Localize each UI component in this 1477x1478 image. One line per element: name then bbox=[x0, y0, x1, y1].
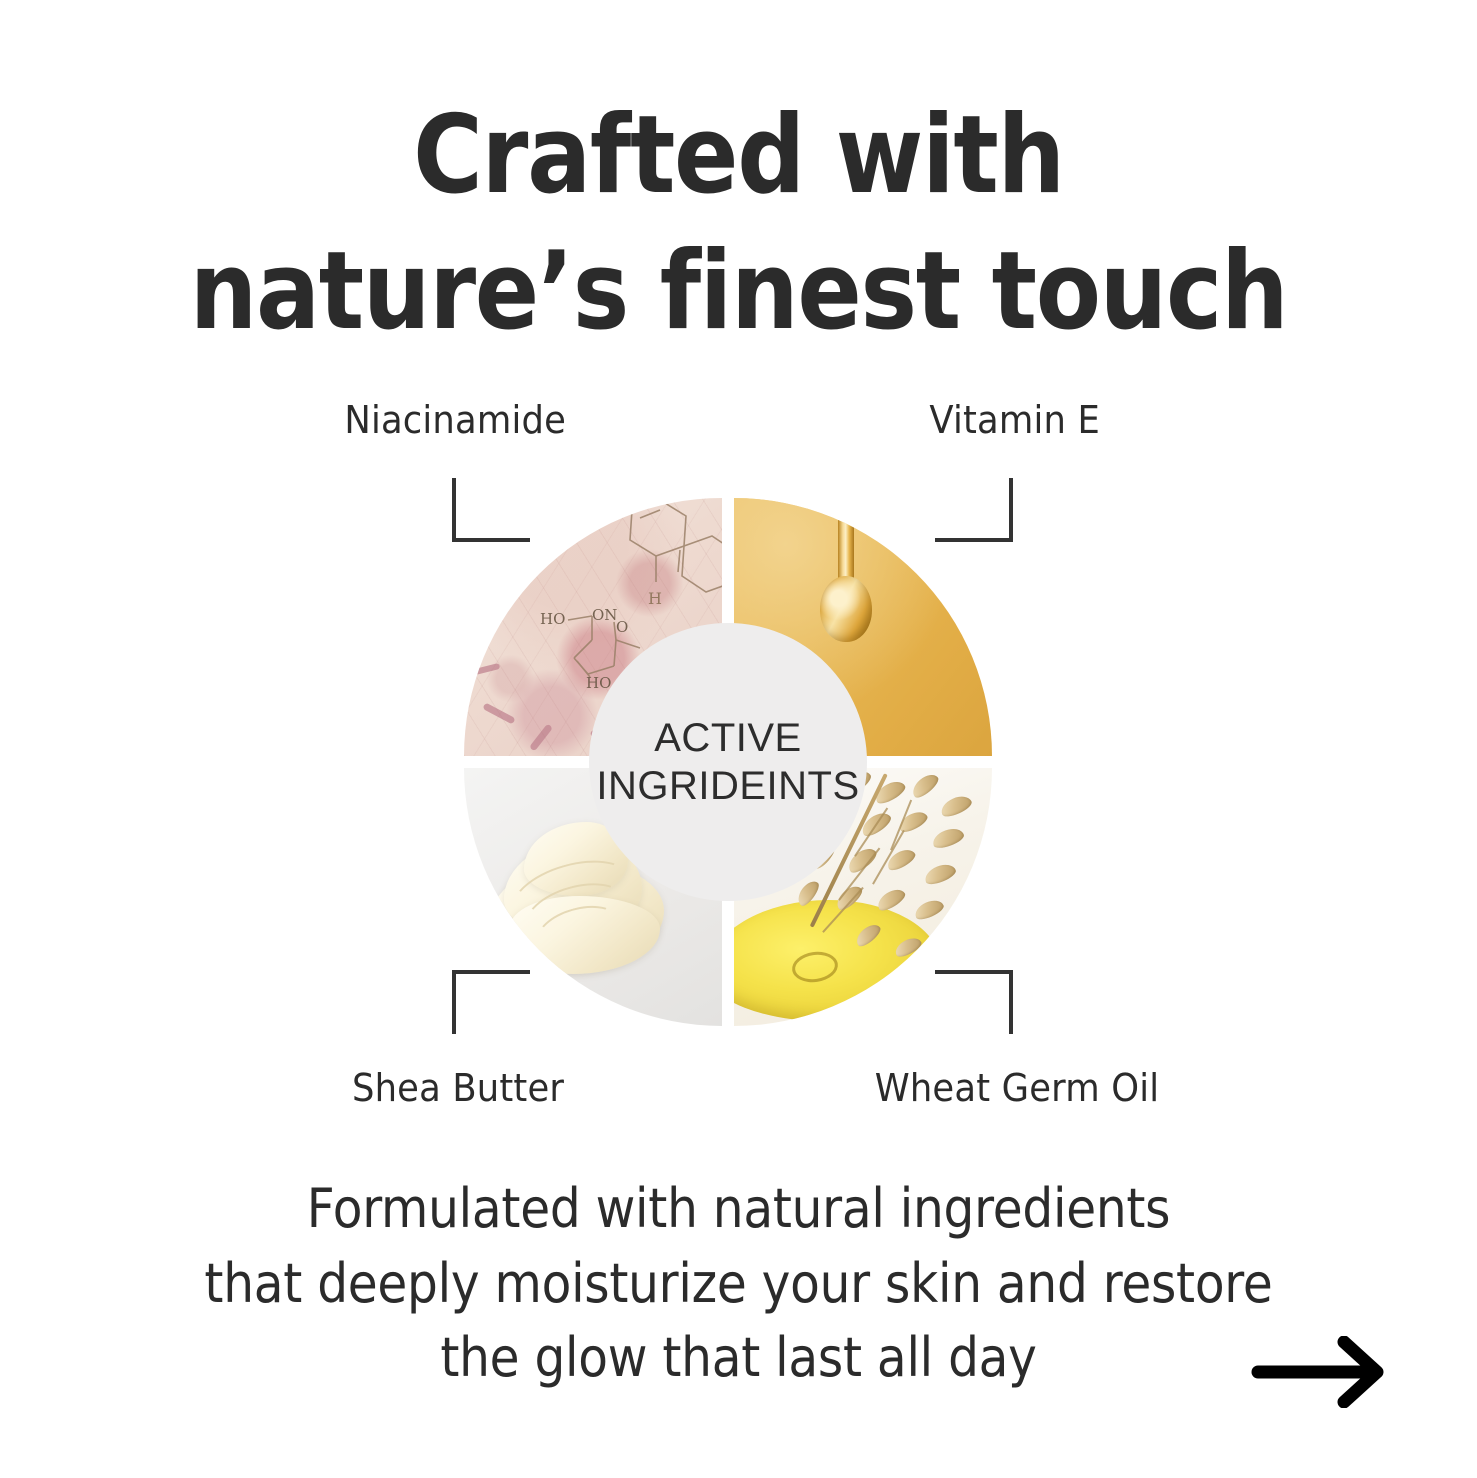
wheel-center-disc: ACTIVE INGRIDEINTS bbox=[589, 623, 867, 901]
arrow-right-icon bbox=[1248, 1336, 1398, 1408]
oil-droplet-icon bbox=[820, 498, 872, 680]
label-wheat-germ-oil: Wheat Germ Oil bbox=[875, 1066, 1160, 1110]
svg-text:H: H bbox=[648, 589, 662, 608]
next-button[interactable] bbox=[1248, 1336, 1398, 1408]
svg-text:ON: ON bbox=[592, 606, 617, 624]
body-copy: Formulated with natural ingredients that… bbox=[74, 1172, 1403, 1396]
svg-text:HO: HO bbox=[540, 610, 565, 628]
connector-shea-butter bbox=[452, 970, 530, 1034]
label-niacinamide: Niacinamide bbox=[344, 398, 566, 442]
label-vitamin-e: Vitamin E bbox=[929, 398, 1100, 442]
svg-text:HO: HO bbox=[586, 674, 611, 692]
connector-wheat-germ-oil bbox=[935, 970, 1013, 1034]
infographic-canvas: Crafted with nature’s finest touch bbox=[0, 0, 1477, 1478]
wheel-center-label: ACTIVE INGRIDEINTS bbox=[596, 714, 859, 810]
label-shea-butter: Shea Butter bbox=[352, 1066, 564, 1110]
connector-vitamin-e bbox=[935, 478, 1013, 542]
svg-text:O: O bbox=[616, 618, 628, 636]
connector-niacinamide bbox=[452, 478, 530, 542]
page-title: Crafted with nature’s finest touch bbox=[89, 88, 1389, 360]
